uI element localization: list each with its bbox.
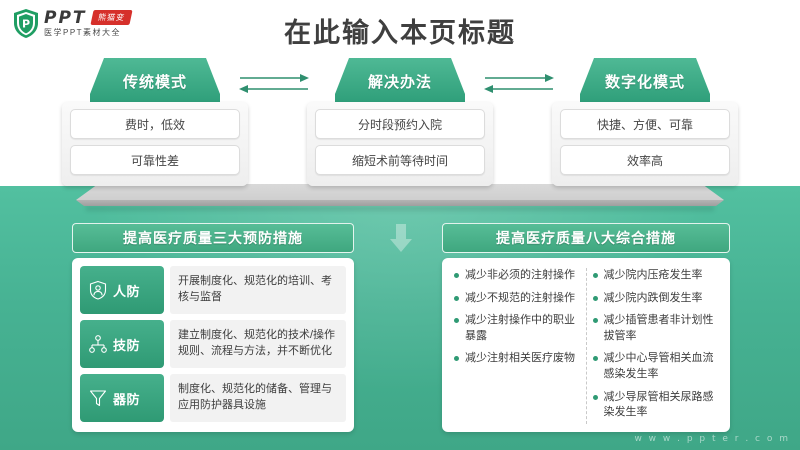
list-item-label: 减少院内跌倒发生率 bbox=[604, 291, 703, 307]
bullet-dot-icon bbox=[593, 318, 598, 323]
shelf-shadow bbox=[86, 206, 714, 211]
bullet-dot-icon bbox=[454, 356, 459, 361]
list-item[interactable]: 减少院内跌倒发生率 bbox=[593, 291, 719, 307]
comprehensive-measures-panel: 减少非必须的注射操作 减少不规范的注射操作 减少注射操作中的职业暴露 减少注射相… bbox=[442, 258, 730, 432]
card-header: 解决办法 bbox=[335, 58, 465, 104]
card-body: 分时段预约入院 缩短术前等待时间 bbox=[307, 102, 493, 186]
list-item[interactable]: 减少插管患者非计划性拔管率 bbox=[593, 313, 719, 344]
banner-label: 提高医疗质量三大预防措施 bbox=[123, 228, 303, 248]
measure-description: 制度化、规范化的储备、管理与应用防护器具设施 bbox=[170, 374, 346, 422]
list-item-label: 减少注射操作中的职业暴露 bbox=[465, 313, 580, 344]
list-item[interactable]: 减少注射相关医疗废物 bbox=[454, 351, 580, 367]
bullet-column-injection: 减少非必须的注射操作 减少不规范的注射操作 减少注射操作中的职业暴露 减少注射相… bbox=[448, 268, 587, 424]
measure-tag: 人防 bbox=[80, 266, 164, 314]
list-item-label: 减少中心导管相关血流感染发生率 bbox=[604, 351, 719, 382]
bullet-column-incidence: 减少院内压疮发生率 减少院内跌倒发生率 减少插管患者非计划性拔管率 减少中心导管… bbox=[587, 268, 725, 424]
page-title: 在此输入本页标题 bbox=[0, 11, 800, 50]
top-card-solution[interactable]: 解决办法 分时段预约入院 缩短术前等待时间 bbox=[307, 58, 493, 186]
list-item[interactable]: 减少院内压疮发生率 bbox=[593, 268, 719, 284]
slide-canvas: P PPT 熊猫变 医学PPT素材大全 在此输入本页标题 传统模式 费时，低效 … bbox=[0, 0, 800, 450]
double-arrow-icon bbox=[238, 72, 310, 96]
measure-description: 建立制度化、规范化的技术/操作规则、流程与方法，并不断优化 bbox=[170, 320, 346, 368]
arrow-down-icon bbox=[389, 222, 413, 254]
double-arrow-icon bbox=[483, 72, 555, 96]
card-title: 传统模式 bbox=[123, 71, 187, 92]
list-item[interactable]: 减少不规范的注射操作 bbox=[454, 291, 580, 307]
card-item[interactable]: 缩短术前等待时间 bbox=[315, 145, 485, 175]
card-body: 费时，低效 可靠性差 bbox=[62, 102, 248, 186]
list-item-label: 减少插管患者非计划性拔管率 bbox=[604, 313, 719, 344]
bullet-dot-icon bbox=[593, 273, 598, 278]
list-item[interactable]: 减少导尿管相关尿路感染发生率 bbox=[593, 390, 719, 421]
card-item[interactable]: 快捷、方便、可靠 bbox=[560, 109, 730, 139]
list-item[interactable]: 减少注射操作中的职业暴露 bbox=[454, 313, 580, 344]
list-item-label: 减少院内压疮发生率 bbox=[604, 268, 703, 284]
bullet-dot-icon bbox=[454, 318, 459, 323]
network-node-icon bbox=[88, 334, 108, 354]
card-header: 数字化模式 bbox=[580, 58, 710, 104]
banner-comprehensive-measures: 提高医疗质量八大综合措施 bbox=[442, 223, 730, 253]
card-item[interactable]: 分时段预约入院 bbox=[315, 109, 485, 139]
list-item-label: 减少不规范的注射操作 bbox=[465, 291, 575, 307]
list-item[interactable]: 减少中心导管相关血流感染发生率 bbox=[593, 351, 719, 382]
card-header: 传统模式 bbox=[90, 58, 220, 104]
measure-row-qifang[interactable]: 器防 制度化、规范化的储备、管理与应用防护器具设施 bbox=[80, 374, 346, 422]
measure-label: 技防 bbox=[113, 335, 140, 354]
top-card-digital[interactable]: 数字化模式 快捷、方便、可靠 效率高 bbox=[552, 58, 738, 186]
bullet-dot-icon bbox=[593, 296, 598, 301]
list-item-label: 减少非必须的注射操作 bbox=[465, 268, 575, 284]
card-title: 数字化模式 bbox=[605, 71, 685, 92]
funnel-icon bbox=[88, 388, 108, 408]
banner-label: 提高医疗质量八大综合措施 bbox=[496, 228, 676, 248]
bullet-dot-icon bbox=[593, 356, 598, 361]
prevention-measures-panel: 人防 开展制度化、规范化的培训、考核与监督 技防 建立制度化、规范化的技术/操作… bbox=[72, 258, 354, 432]
bullet-dot-icon bbox=[454, 273, 459, 278]
card-item[interactable]: 费时，低效 bbox=[70, 109, 240, 139]
card-item[interactable]: 效率高 bbox=[560, 145, 730, 175]
measure-label: 器防 bbox=[113, 389, 140, 408]
card-title: 解决办法 bbox=[368, 71, 432, 92]
footer-watermark: w w w . p p t e r . c o m bbox=[634, 434, 790, 444]
measure-tag: 器防 bbox=[80, 374, 164, 422]
list-item[interactable]: 减少非必须的注射操作 bbox=[454, 268, 580, 284]
shelf-platform-top bbox=[76, 184, 724, 200]
card-body: 快捷、方便、可靠 效率高 bbox=[552, 102, 738, 186]
measure-row-jifang[interactable]: 技防 建立制度化、规范化的技术/操作规则、流程与方法，并不断优化 bbox=[80, 320, 346, 368]
top-card-traditional[interactable]: 传统模式 费时，低效 可靠性差 bbox=[62, 58, 248, 186]
card-item[interactable]: 可靠性差 bbox=[70, 145, 240, 175]
list-item-label: 减少注射相关医疗废物 bbox=[465, 351, 575, 367]
measure-description: 开展制度化、规范化的培训、考核与监督 bbox=[170, 266, 346, 314]
measure-row-renfang[interactable]: 人防 开展制度化、规范化的培训、考核与监督 bbox=[80, 266, 346, 314]
shelf-platform-edge bbox=[76, 200, 724, 206]
bullet-dot-icon bbox=[454, 296, 459, 301]
measure-tag: 技防 bbox=[80, 320, 164, 368]
list-item-label: 减少导尿管相关尿路感染发生率 bbox=[604, 390, 719, 421]
bullet-dot-icon bbox=[593, 395, 598, 400]
person-guard-icon bbox=[88, 280, 108, 300]
measure-label: 人防 bbox=[113, 281, 140, 300]
banner-prevention-measures: 提高医疗质量三大预防措施 bbox=[72, 223, 354, 253]
